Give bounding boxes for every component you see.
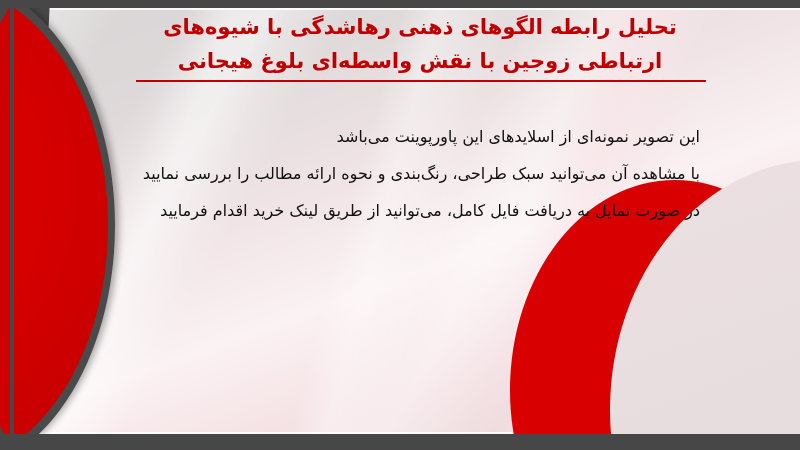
body-line-1: این تصویر نمونه‌ای از اسلایدهای این پاور…	[100, 118, 700, 155]
body-line-2: با مشاهده آن می‌توانید سبک طراحی، رنگ‌بن…	[100, 155, 700, 192]
left-red-edge-sliver	[0, 6, 10, 444]
title-line-2: ارتباطی زوجین با نقش واسطه‌ای بلوغ هیجان…	[120, 44, 720, 78]
top-frame-band	[0, 0, 800, 8]
presentation-slide: تحلیل رابطه الگوهای ذهنی رهاشدگی با شیوه…	[0, 0, 800, 450]
slide-body-text: این تصویر نمونه‌ای از اسلایدهای این پاور…	[100, 118, 700, 229]
title-divider-rule	[136, 80, 706, 82]
body-line-3: در صورت تمایل به دریافت فایل کامل، می‌تو…	[100, 192, 700, 229]
slide-title: تحلیل رابطه الگوهای ذهنی رهاشدگی با شیوه…	[120, 10, 720, 78]
bottom-frame-band	[0, 434, 800, 450]
title-line-1: تحلیل رابطه الگوهای ذهنی رهاشدگی با شیوه…	[120, 10, 720, 44]
